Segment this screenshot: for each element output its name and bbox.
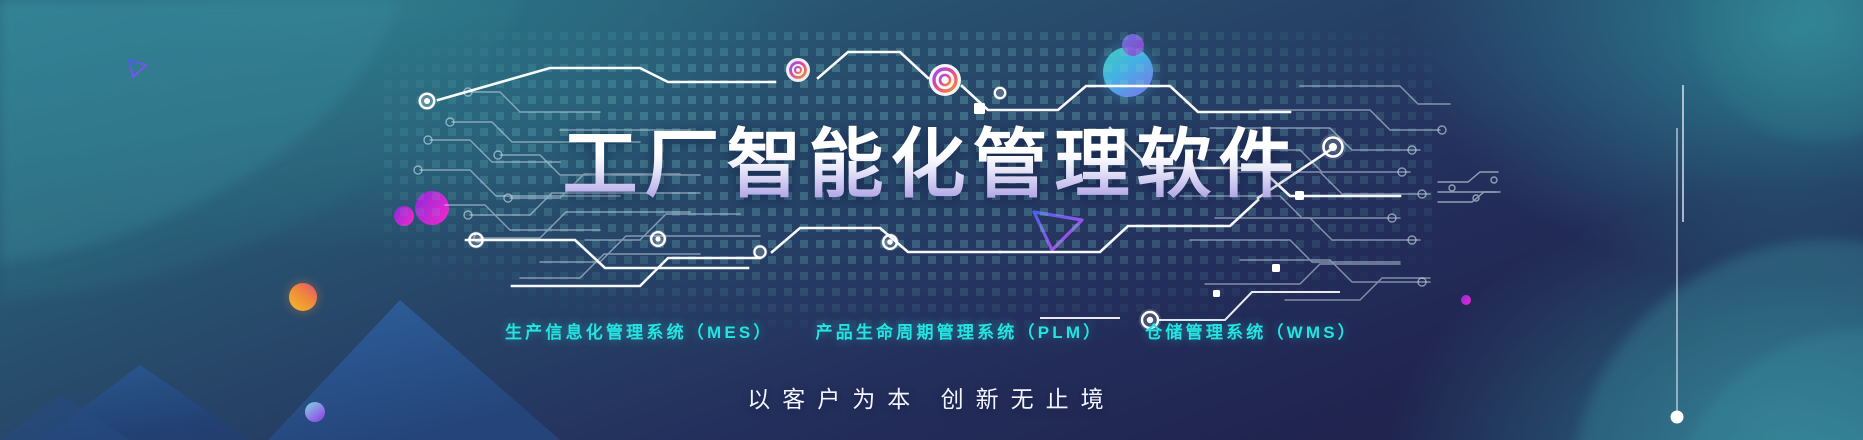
node-colorful-ring-small bbox=[786, 58, 810, 82]
node-colorful-ring bbox=[929, 64, 961, 96]
hero-banner: 工厂智能化管理软件 生产信息化管理系统（MES） 产品生命周期管理系统（PLM）… bbox=[0, 0, 1863, 440]
colorful-node-layer bbox=[0, 0, 1863, 440]
